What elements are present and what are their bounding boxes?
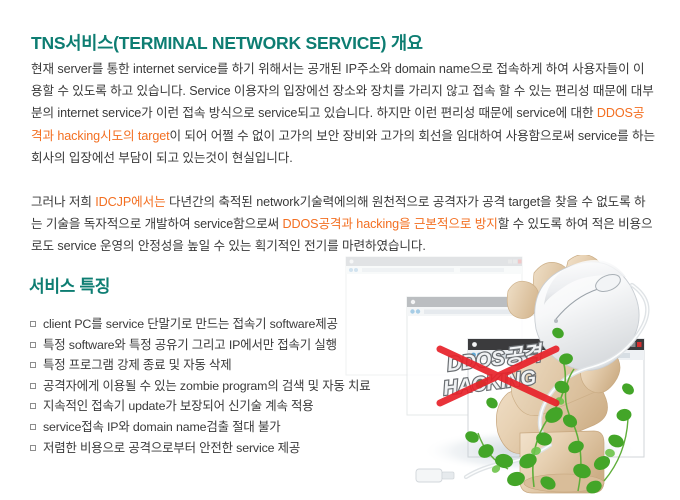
intro-p2-segment-1: 그러나 저희: [31, 195, 95, 209]
feature-label: 저렴한 비용으로 공격으로부터 안전한 service 제공: [43, 441, 300, 455]
ddos-hacking-stamp: DDOS공격 HACKING: [440, 342, 556, 403]
square-bullet-icon: [30, 362, 36, 368]
slide-page: DDOS공격 HACKING TNS서비스(TERMINAL NETWORK S…: [0, 0, 680, 500]
square-bullet-icon: [30, 445, 36, 451]
intro-paragraph-2: 그러나 저희 IDCJP에서는 다년간의 축적된 network기술력에의해 원…: [31, 191, 655, 258]
intro-p1-segment-1: 현재 server를 통한 internet service를 하기 위해서는 …: [31, 62, 654, 120]
square-bullet-icon: [30, 403, 36, 409]
wooden-hand: [496, 255, 620, 493]
feature-label: 특정 software와 특정 공유기 그리고 IP에서만 접속기 실행: [43, 338, 337, 352]
mouse-cable: [466, 285, 647, 477]
list-item: client PC를 service 단말기로 만드는 접속기 software…: [29, 314, 389, 335]
intro-paragraph-1: 현재 server를 통한 internet service를 하기 위해서는 …: [31, 58, 655, 169]
computer-mouse: [535, 260, 639, 370]
list-item: 공격자에게 이용될 수 있는 zombie program의 검색 및 자동 치…: [29, 376, 389, 397]
red-cross-out: [440, 349, 556, 403]
intro-p2-highlight-1: IDCJP에서는: [95, 195, 165, 209]
square-bullet-icon: [30, 342, 36, 348]
feature-label: 지속적인 접속기 update가 보장되어 신기술 계속 적용: [43, 399, 314, 413]
square-bullet-icon: [30, 424, 36, 430]
vine-decoration: [463, 326, 636, 496]
square-bullet-icon: [30, 383, 36, 389]
browser-window-front: [468, 339, 644, 457]
intro-section: 현재 server를 통한 internet service를 하기 위해서는 …: [31, 58, 655, 258]
stamp-line2: HACKING: [442, 367, 537, 400]
square-bullet-icon: [30, 321, 36, 327]
list-item: 특정 프로그램 강제 종료 및 자동 삭제: [29, 355, 389, 376]
intro-p2-highlight-2: DDOS공격과 hacking을 근본적으로 방지: [282, 217, 497, 231]
stamp-line1: DDOS공격: [446, 342, 545, 376]
features-title: 서비스 특징: [29, 272, 389, 297]
usb-connector: [416, 469, 454, 482]
feature-label: service접속 IP와 domain name검출 절대 불가: [43, 420, 280, 434]
list-item: 특정 software와 특정 공유기 그리고 IP에서만 접속기 실행: [29, 335, 389, 356]
list-item: 저렴한 비용으로 공격으로부터 안전한 service 제공: [29, 438, 389, 459]
browser-window-middle: [407, 297, 583, 415]
feature-label: 특정 프로그램 강제 종료 및 자동 삭제: [43, 358, 232, 372]
mouse-cable-highlight: [466, 285, 647, 477]
feature-label: client PC를 service 단말기로 만드는 접속기 software…: [43, 317, 338, 331]
features-section: 서비스 특징 client PC를 service 단말기로 만드는 접속기 s…: [29, 272, 389, 458]
list-item: 지속적인 접속기 update가 보장되어 신기술 계속 적용: [29, 396, 389, 417]
list-item: service접속 IP와 domain name검출 절대 불가: [29, 417, 389, 438]
page-title: TNS서비스(TERMINAL NETWORK SERVICE) 개요: [31, 30, 423, 55]
features-list: client PC를 service 단말기로 만드는 접속기 software…: [29, 314, 389, 458]
feature-label: 공격자에게 이용될 수 있는 zombie program의 검색 및 자동 치…: [43, 379, 371, 393]
